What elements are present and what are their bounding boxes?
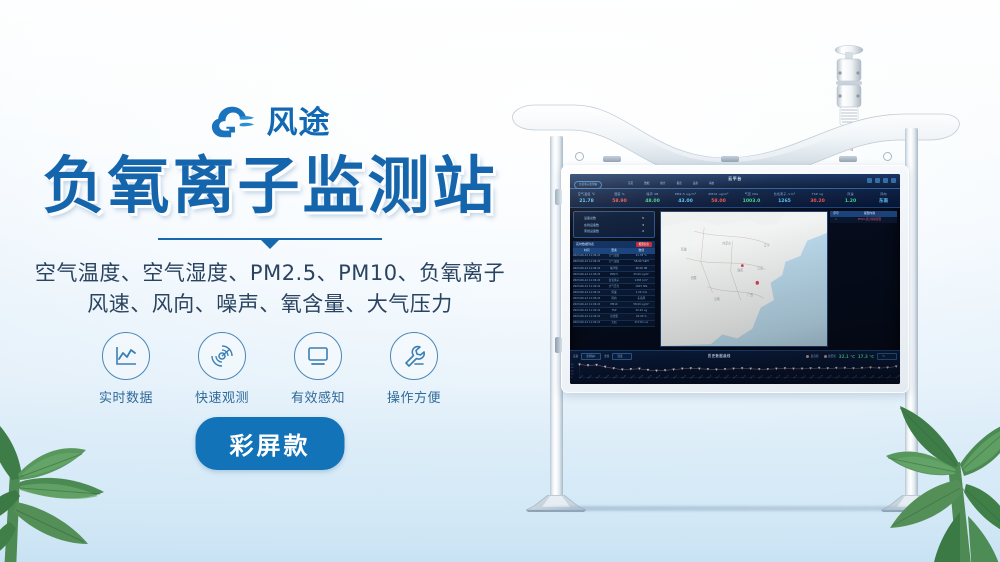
table-cell: PM10 <box>600 302 627 307</box>
kpi-cell: 噪声 dB48.00 <box>636 189 669 207</box>
feature-label: 快速观测 <box>195 387 249 406</box>
kpi-value: 1003.0 <box>735 199 768 205</box>
kpi-value: 1265 <box>768 199 801 205</box>
page-title: 负氧离子监测站 <box>0 155 540 217</box>
subtitle-line-1: 空气温度、空气湿度、PM2.5、PM10、负氧离子 <box>35 261 505 285</box>
table-cell: PM2.5 <box>600 272 627 277</box>
table-cell: 2023-06-12 11:04:21 <box>573 290 600 295</box>
table-cell: 30.20 ug <box>628 308 655 313</box>
table-cell: 31730 Lux <box>628 321 655 326</box>
svg-text:10: 10 <box>571 374 574 376</box>
monitoring-map[interactable]: 新疆内蒙古 西藏陕西 云南广西 辽宁江苏 <box>660 211 828 347</box>
table-cell: 20.90 % <box>628 314 655 319</box>
down-triangle-divider-icon <box>261 240 279 249</box>
kpi-value: 30.20 <box>801 199 834 205</box>
kpi-value: 21.78 <box>570 199 603 205</box>
table-cell: 负氧离子 <box>600 278 627 283</box>
feature-label: 操作方便 <box>387 387 441 406</box>
table-row: 2023-06-12 11:04:21光照31730 Lux <box>573 321 655 327</box>
table-title: 实时数据列表 <box>576 242 594 246</box>
kpi-cell: 湿度 %58.90 <box>603 189 636 207</box>
table-cell: 2023-06-12 11:04:21 <box>573 284 600 289</box>
mount-tab <box>839 156 857 162</box>
device-stats-box: 设备总数5在线设备数3离线设备数2 <box>573 211 655 238</box>
chart-legend: 最高值 最低值 <box>806 355 836 359</box>
dashboard-left-column: 设备总数5在线设备数3离线设备数2 实时数据列表 报警信息 时间 要素 数值 2… <box>570 208 658 350</box>
table-cell: 2023-06-12 11:04:21 <box>573 321 600 326</box>
table-cell: 空气湿度 <box>600 260 627 265</box>
table-cell: 2023-06-12 11:04:21 <box>573 314 600 319</box>
chart-title: 历史数据曲线 <box>635 354 803 359</box>
grid-icon[interactable] <box>867 178 872 183</box>
dashboard: 云平台 负氧离子监测站 首页 数据 统计 报表 设备 系统 空气温度 <box>570 174 900 384</box>
kpi-value: 58.90 <box>603 199 636 205</box>
table-cell: 48.00 dB <box>628 266 655 271</box>
nav-item[interactable]: 设备 <box>693 182 698 186</box>
table-cell: 1.20 m/s <box>628 290 655 295</box>
kpi-cell: TSP ug30.20 <box>801 189 834 207</box>
kpi-cell: 风向东南 <box>867 189 900 207</box>
chart-select-right-label: 要素 <box>604 355 609 359</box>
mount-tab <box>603 156 621 162</box>
svg-text:0: 0 <box>571 377 573 379</box>
nav-item[interactable]: 报表 <box>677 182 682 186</box>
hero-subtitle: 空气温度、空气湿度、PM2.5、PM10、负氧离子 风速、风向、噪声、氧含量、大… <box>0 258 540 320</box>
model-type-button[interactable]: 彩屏款 <box>196 417 345 470</box>
feature-item-effective-sensing[interactable]: 有效感知 <box>287 332 349 406</box>
alarm-text: PM10 超过阈值报警 <box>842 217 897 223</box>
svg-text:07-08: 07-08 <box>896 375 900 380</box>
product-illustration: 云平台 负氧离子监测站 首页 数据 统计 报表 设备 系统 空气温度 <box>505 40 975 540</box>
table-cell: TSP <box>600 308 627 313</box>
alarm-index: 1 <box>830 217 842 223</box>
nav-item[interactable]: 统计 <box>660 182 665 186</box>
mount-ring <box>575 152 584 161</box>
kpi-cell: PM2.5 ug/m³43.00 <box>669 189 702 207</box>
table-cell: 2023-06-12 11:04:21 <box>573 254 600 259</box>
table-cell: 1003 hPa <box>628 284 655 289</box>
table-cell: 大气压力 <box>600 284 627 289</box>
kpi-value: 48.00 <box>636 199 669 205</box>
table-cell: 风速 <box>600 290 627 295</box>
table-cell: 1265 /cm³ <box>628 278 655 283</box>
feature-item-realtime-data[interactable]: 实时数据 <box>95 332 157 406</box>
kpi-label: TSP ug <box>801 192 834 196</box>
dashboard-right-column: 序号 报警内容 1 PM10 超过阈值报警 <box>830 208 900 350</box>
feature-list: 实时数据 快速观测 有效感知 <box>0 332 540 406</box>
table-cell: 2023-06-12 11:04:21 <box>573 278 600 283</box>
dashboard-header-icons[interactable] <box>867 178 896 183</box>
kpi-value: 58.00 <box>702 199 735 205</box>
svg-text:20: 20 <box>571 370 574 372</box>
table-cell: 风向 <box>600 296 627 301</box>
kpi-cell: 风速1.20 <box>834 189 867 207</box>
kpi-cell: 气压 hPa1003.0 <box>735 189 768 207</box>
alarm-table-row: 1 PM10 超过阈值报警 <box>830 217 897 223</box>
svg-text:新疆: 新疆 <box>681 246 687 251</box>
kpi-value: 43.00 <box>669 199 702 205</box>
china-map-icon: 新疆内蒙古 西藏陕西 云南广西 辽宁江苏 <box>661 212 827 346</box>
table-cell: 58.00 ug/m³ <box>628 302 655 307</box>
nav-item[interactable]: 首页 <box>628 182 633 186</box>
feature-label: 实时数据 <box>99 387 153 406</box>
station-pill[interactable]: 负氧离子监测站 <box>574 181 602 189</box>
nav-item[interactable]: 数据 <box>644 182 649 186</box>
kpi-cell: 负氧离子 /cm³1265 <box>768 189 801 207</box>
kpi-label: 噪声 dB <box>636 192 669 196</box>
user-icon[interactable] <box>891 178 896 183</box>
chart-icon[interactable] <box>875 178 880 183</box>
kpi-value: 东南 <box>867 199 900 205</box>
kpi-cell: 空气温度 ℃21.78 <box>570 189 603 207</box>
legend-dot-icon <box>824 355 827 358</box>
alarm-chip[interactable]: 报警信息 <box>636 242 652 247</box>
line-chart-svg: 40302010006-0106-0206-0306-0406-0506-060… <box>570 360 900 384</box>
legend-dot-icon <box>806 355 809 358</box>
table-cell: 2023-06-12 11:04:21 <box>573 266 600 271</box>
chart-element-select[interactable]: 温度 <box>612 353 632 360</box>
dashboard-screen[interactable]: 云平台 负氧离子监测站 首页 数据 统计 报表 设备 系统 空气温度 <box>570 174 900 384</box>
svg-text:内蒙古: 内蒙古 <box>722 240 730 245</box>
hero-text-panel: 风途 负氧离子监测站 空气温度、空气湿度、PM2.5、PM10、负氧离子 风速、… <box>0 0 540 562</box>
dashboard-nav[interactable]: 首页 数据 统计 报表 设备 系统 <box>628 182 714 186</box>
line-chart-icon <box>102 332 150 380</box>
kpi-label: 空气温度 ℃ <box>570 192 603 196</box>
realtime-table-body: 2023-06-12 11:04:21空气温度21.78 ℃2023-06-12… <box>573 254 655 327</box>
table-cell: 2023-06-12 11:04:21 <box>573 260 600 265</box>
kpi-label: PM2.5 ug/m³ <box>669 192 702 196</box>
kpi-label: 负氧离子 /cm³ <box>768 192 801 196</box>
title-divider <box>0 238 540 249</box>
kpi-value: 1.20 <box>834 199 867 205</box>
svg-text:陕西: 陕西 <box>737 267 743 272</box>
wrench-icon <box>390 332 438 380</box>
svg-text:西藏: 西藏 <box>691 275 697 280</box>
kpi-label: 风向 <box>867 192 900 196</box>
kpi-row: 空气温度 ℃21.78湿度 %58.90噪声 dB48.00PM2.5 ug/m… <box>570 189 900 208</box>
svg-text:江苏: 江苏 <box>757 265 763 270</box>
nav-item[interactable]: 系统 <box>709 182 714 186</box>
table-cell: 光照 <box>600 321 627 326</box>
table-cell: 2023-06-12 11:04:21 <box>573 296 600 301</box>
table-cell: 43.00 ug/m³ <box>628 272 655 277</box>
brand-name: 风途 <box>267 108 331 139</box>
monitor-screen-icon <box>294 332 342 380</box>
feature-item-fast-observation[interactable]: 快速观测 <box>191 332 253 406</box>
kpi-label: 气压 hPa <box>735 192 768 196</box>
device-stat-line: 离线设备数2 <box>578 228 650 234</box>
chart-max-value: 32.1 ℃ <box>839 354 855 359</box>
svg-text:云南: 云南 <box>714 296 720 301</box>
brand-logo: 风途 <box>0 103 540 143</box>
table-cell: 58.90 %RH <box>628 260 655 265</box>
outdoor-lcd-housing: 云平台 负氧离子监测站 首页 数据 统计 报表 设备 系统 空气温度 <box>561 165 909 393</box>
legend-item: 最低值 <box>824 355 836 359</box>
chart-select-left-label: 设备 <box>573 355 578 359</box>
table-cell: 21.78 ℃ <box>628 254 655 259</box>
svg-text:辽宁: 辽宁 <box>764 242 770 247</box>
svg-text:广西: 广西 <box>747 292 753 297</box>
feature-item-easy-operation[interactable]: 操作方便 <box>383 332 445 406</box>
history-chart-panel: 设备 监测站1 要素 温度 历史数据曲线 最高值 最低值 32.1 ℃ 17.3… <box>570 350 900 384</box>
subtitle-line-2: 风速、风向、噪声、氧含量、大气压力 <box>0 289 540 320</box>
kpi-cell: PM10 ug/m³58.00 <box>702 189 735 207</box>
kpi-label: 风速 <box>834 192 867 196</box>
kpi-label: 湿度 % <box>603 192 636 196</box>
svg-text:30: 30 <box>571 367 574 369</box>
svg-text:40: 40 <box>571 364 574 366</box>
legend-item: 最高值 <box>806 355 818 359</box>
history-line-chart: 40302010006-0106-0206-0306-0406-0506-060… <box>570 360 900 384</box>
table-cell: 2023-06-12 11:04:21 <box>573 308 600 313</box>
table-cell: 氧含量 <box>600 314 627 319</box>
radar-sensor-icon <box>198 332 246 380</box>
kpi-label: PM10 ug/m³ <box>702 192 735 196</box>
mount-ring <box>883 152 892 161</box>
chart-device-select[interactable]: 监测站1 <box>581 353 601 360</box>
table-cell: 2023-06-12 11:04:21 <box>573 272 600 277</box>
table-cell: 噪声值 <box>600 266 627 271</box>
mount-tab <box>721 156 739 162</box>
ground-shadow <box>535 506 935 511</box>
bell-icon[interactable] <box>883 178 888 183</box>
dashboard-body: 设备总数5在线设备数3离线设备数2 实时数据列表 报警信息 时间 要素 数值 2… <box>570 208 900 350</box>
table-cell: 空气温度 <box>600 254 627 259</box>
table-cell: 2023-06-12 11:04:21 <box>573 302 600 307</box>
chart-min-value: 17.3 ℃ <box>858 354 874 359</box>
dashboard-title: 云平台 <box>570 176 900 181</box>
chart-unit-button[interactable]: ℃ <box>877 353 897 360</box>
cloud-g-leaf-logo-icon <box>210 103 258 143</box>
table-cell: 东南风 <box>628 296 655 301</box>
feature-label: 有效感知 <box>291 387 345 406</box>
